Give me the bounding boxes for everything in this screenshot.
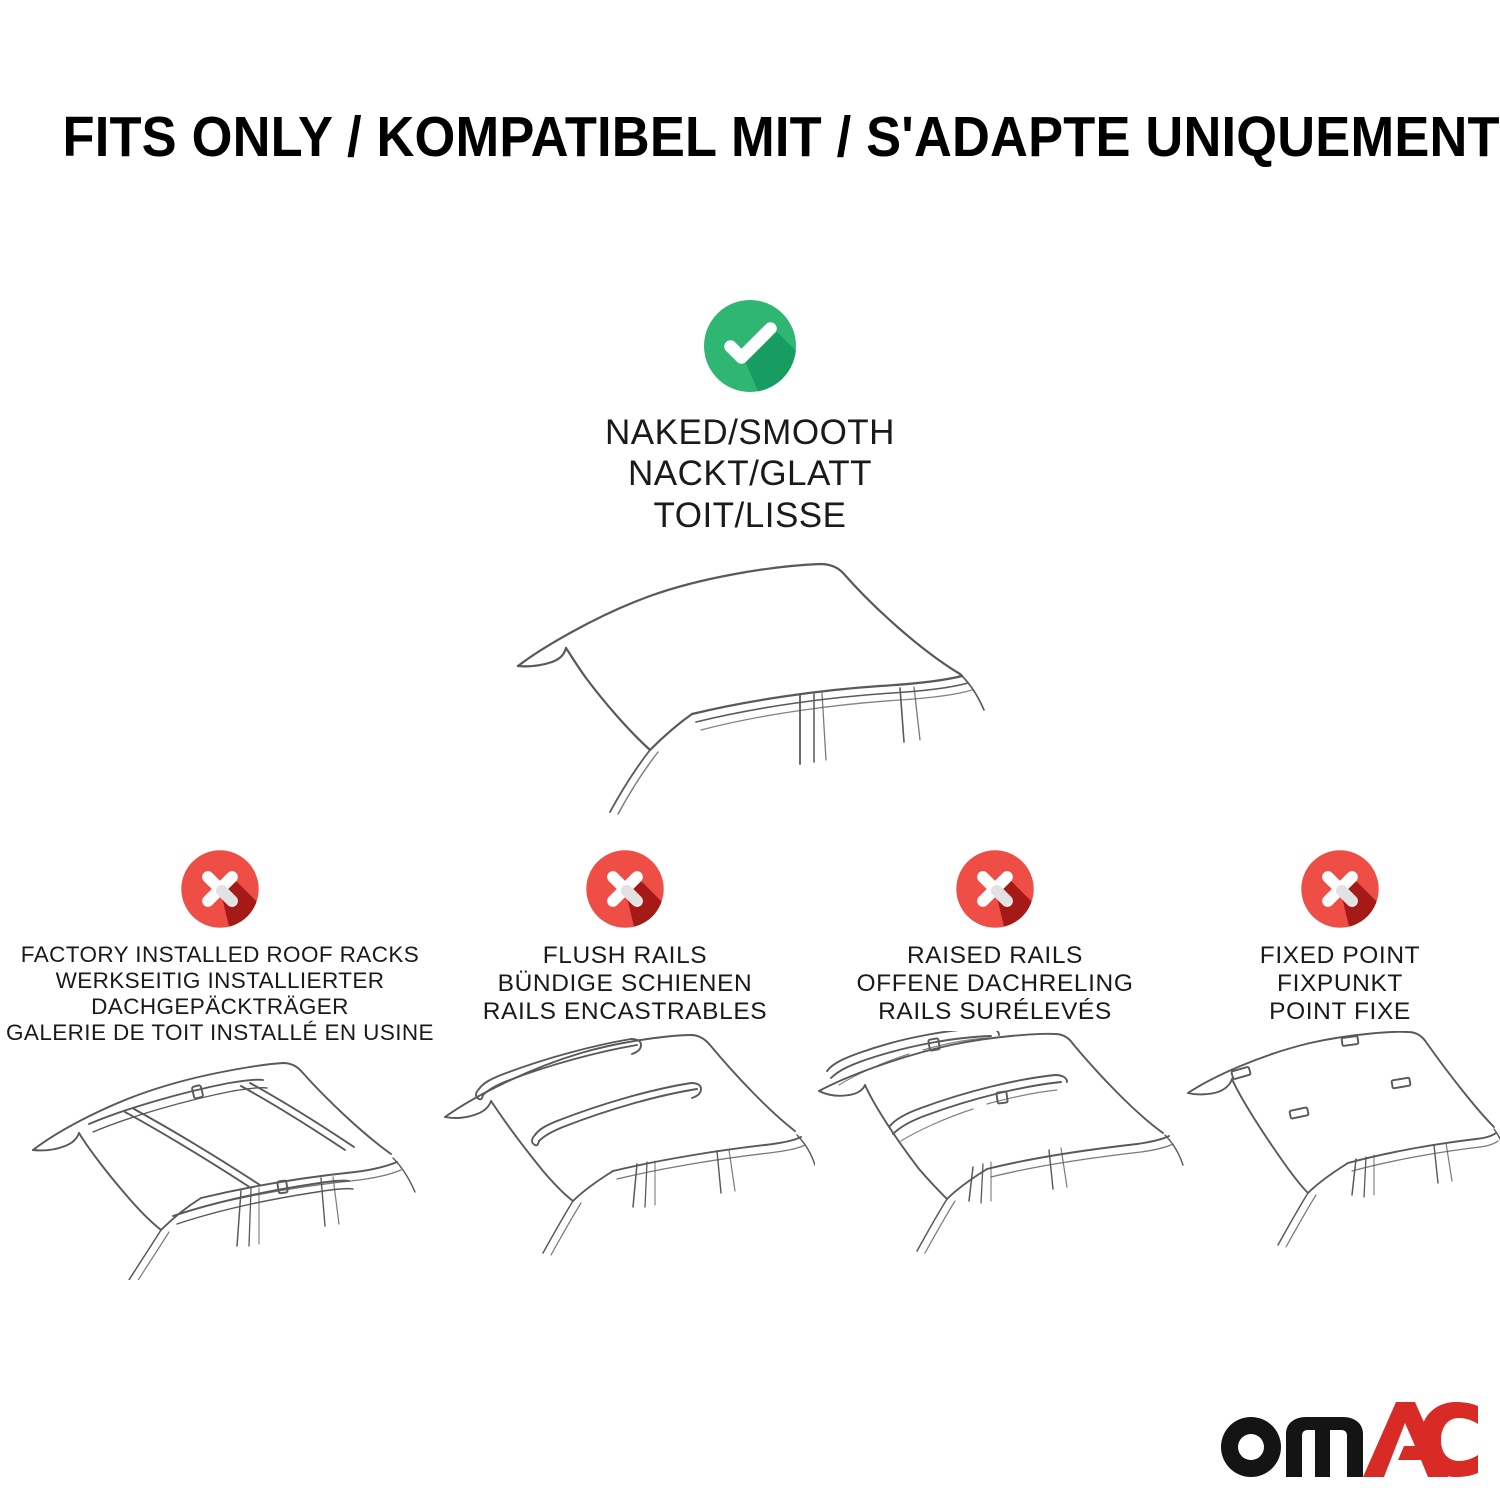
cross-circle-icon xyxy=(177,846,263,932)
incompatible-item-factory-roof-racks: FACTORY INSTALLED ROOF RACKS WERKSEITIG … xyxy=(0,846,440,1280)
compatible-section: NAKED/SMOOTH NACKT/GLATT TOIT/LISSE xyxy=(0,296,1500,824)
cross-circle-icon xyxy=(1297,846,1383,932)
omac-logo xyxy=(1212,1396,1478,1482)
car-roof-flush-rails-illustration xyxy=(435,1031,815,1261)
label-line-1: RAISED RAILS xyxy=(856,942,1133,970)
incompatible-section: FACTORY INSTALLED ROOF RACKS WERKSEITIG … xyxy=(0,846,1500,1280)
car-roof-raised-rails-illustration xyxy=(805,1031,1185,1261)
label-group: FIXED POINT FIXPUNKT POINT FIXE xyxy=(1260,942,1420,1027)
omac-logo-letter-o xyxy=(1221,1417,1281,1477)
label-line-2: WERKSEITIG INSTALLIERTER xyxy=(6,968,434,994)
page-title: FITS ONLY / KOMPATIBEL MIT / S'ADAPTE UN… xyxy=(62,104,1499,170)
compatible-label-fr: TOIT/LISSE xyxy=(605,495,895,536)
incompatible-item-flush-rails: FLUSH RAILS BÜNDIGE SCHIENEN RAILS ENCAS… xyxy=(440,846,810,1261)
car-roof-naked-smooth-illustration xyxy=(500,554,1000,824)
car-roof-fixed-point-illustration xyxy=(1180,1031,1500,1261)
header-banner: FITS ONLY / KOMPATIBEL MIT / S'ADAPTE UN… xyxy=(0,104,1500,170)
cross-circle-icon xyxy=(582,846,668,932)
compatible-label-en: NAKED/SMOOTH xyxy=(605,412,895,453)
incompatible-item-raised-rails: RAISED RAILS OFFENE DACHRELING RAILS SUR… xyxy=(810,846,1180,1261)
car-roof-factory-roof-racks-illustration xyxy=(15,1050,425,1280)
compatible-label-group: NAKED/SMOOTH NACKT/GLATT TOIT/LISSE xyxy=(605,412,895,536)
label-line-1: FLUSH RAILS xyxy=(483,942,767,970)
label-line-4: GALERIE DE TOIT INSTALLÉ EN USINE xyxy=(6,1020,434,1046)
compatible-label-de: NACKT/GLATT xyxy=(605,453,895,494)
label-line-1: FACTORY INSTALLED ROOF RACKS xyxy=(6,942,434,968)
label-group: FLUSH RAILS BÜNDIGE SCHIENEN RAILS ENCAS… xyxy=(483,942,767,1027)
label-line-3: RAILS SURÉLEVÉS xyxy=(856,998,1133,1026)
label-line-2: OFFENE DACHRELING xyxy=(856,970,1133,998)
check-circle-icon xyxy=(700,296,800,396)
label-line-3: RAILS ENCASTRABLES xyxy=(483,998,767,1026)
label-line-1: FIXED POINT xyxy=(1260,942,1420,970)
cross-circle-icon xyxy=(952,846,1038,932)
label-line-3: POINT FIXE xyxy=(1260,998,1420,1026)
label-line-2: BÜNDIGE SCHIENEN xyxy=(483,970,767,998)
label-line-3: DACHGEPÄCKTRÄGER xyxy=(6,994,434,1020)
label-group: FACTORY INSTALLED ROOF RACKS WERKSEITIG … xyxy=(6,942,434,1046)
omac-logo-letter-m xyxy=(1286,1417,1363,1477)
label-group: RAISED RAILS OFFENE DACHRELING RAILS SUR… xyxy=(856,942,1133,1027)
label-line-2: FIXPUNKT xyxy=(1260,970,1420,998)
incompatible-item-fixed-point: FIXED POINT FIXPUNKT POINT FIXE xyxy=(1180,846,1500,1261)
